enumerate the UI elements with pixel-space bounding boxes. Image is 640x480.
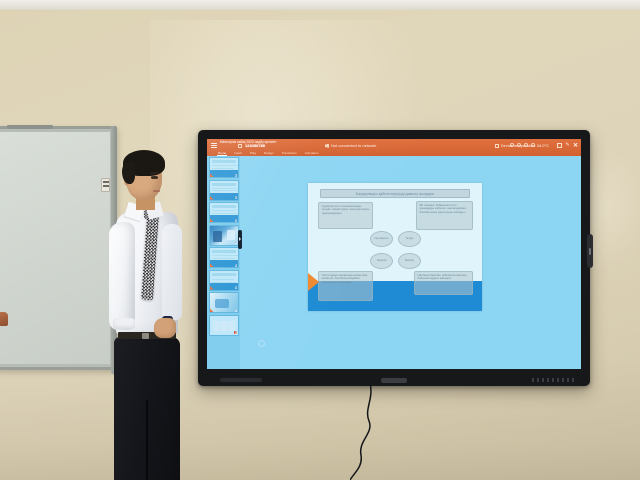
slide-number: 1 [235,174,237,177]
canvas-circle-marker [258,340,265,347]
network-icon [325,144,329,148]
slide-canvas-area[interactable]: Бағдарлаңыз қабілеттеріңізді дамыту жолд… [240,156,581,369]
app-toolbar: Мінистрлік сабақ 2023 надбу презент 1234… [207,139,581,156]
presenter-belt-buckle [142,333,149,339]
tab-design[interactable]: Design [263,151,275,156]
whiteboard-tray [7,125,53,129]
device-temperature-label: Device temperature 34.0°C [501,143,549,148]
tab-animation[interactable]: Animation [304,151,320,156]
presenter-left-sleeve [109,222,135,330]
slide-textbox-top-left[interactable]: Сұрақтар мен тапсырмаларды талдап, жауап… [318,202,373,229]
slide-number: 3 [235,219,237,222]
slide-number: 8 [235,331,237,334]
slide-number: 2 [235,196,237,199]
menu-icon[interactable] [211,143,217,148]
network-status[interactable]: Not connected to network [325,143,376,148]
ribbon-tabs[interactable]: Home Insert Play Design Transitions Anim… [217,151,319,156]
presenter-left-cuff [113,318,135,329]
minimize-icon[interactable] [557,143,562,148]
presenter-nose [158,181,162,186]
network-status-label: Not connected to network [331,143,376,148]
slide-textbox-top-right[interactable]: Әр тақырып бойынша негізгі ұғымдарды жүй… [416,201,473,230]
display-screen[interactable]: Мінистрлік сабақ 2023 надбу презент 1234… [207,139,581,369]
pen-icon[interactable]: ✎ [565,143,570,148]
power-cable [350,383,470,480]
presenter-mouth [153,190,160,192]
presenter [96,150,216,480]
panel-collapse-handle[interactable] [238,230,242,249]
whiteboard-surface [0,132,110,364]
slide-node-1[interactable]: Оқу мақсаты [370,231,393,247]
presenter-sideburn [122,162,135,184]
interactive-flat-panel[interactable]: Мінистрлік сабақ 2023 надбу презент 1234… [198,130,590,386]
save-icon[interactable] [238,144,242,148]
app-workspace: 1 2 [207,156,581,369]
slide-number: 4 [235,241,237,244]
slide-number: 7 [235,309,237,312]
thermometer-icon [495,144,499,148]
display-side-indicator [589,248,591,255]
device-temperature: Device temperature 34.0°C [495,143,549,148]
slide-node-2[interactable]: Талдау [398,231,421,247]
slide-title: Бағдарлаңыз қабілеттеріңізді дамыту жолд… [320,189,470,198]
slide-number: 6 [235,286,237,289]
tab-insert[interactable]: Insert [233,151,243,156]
classroom-scene: Мінистрлік сабақ 2023 надбу презент 1234… [0,0,640,480]
slide-arrow-marker [308,273,319,291]
presenter-right-sleeve [162,224,182,320]
chevron-right-icon [239,237,241,241]
tab-home[interactable]: Home [217,151,227,156]
wall-corner-object [0,312,8,326]
slide-textbox-bottom-left[interactable]: Топта жұмыс жасағанда өзара пікір алмасы… [318,271,373,301]
current-slide[interactable]: Бағдарлаңыз қабілеттеріңізді дамыту жолд… [308,183,482,311]
speaker-left [220,378,262,382]
presenter-leg-seam [146,400,148,480]
slide-textbox-bottom-right[interactable]: Нәтижені бағалап, жіберілген қателер бой… [414,271,473,295]
close-icon[interactable]: ✕ [573,143,578,149]
slide-number: 5 [235,264,237,267]
slide-node-4[interactable]: Бағалау [398,253,421,269]
tab-transitions[interactable]: Transitions [281,151,298,156]
speaker-right [532,378,576,382]
document-code: 123456789 [245,144,265,148]
slide-node-3[interactable]: Тәжірибе [370,253,393,269]
presenter-eye [151,176,158,179]
tab-play[interactable]: Play [249,151,257,156]
presenter-hands [154,318,176,338]
